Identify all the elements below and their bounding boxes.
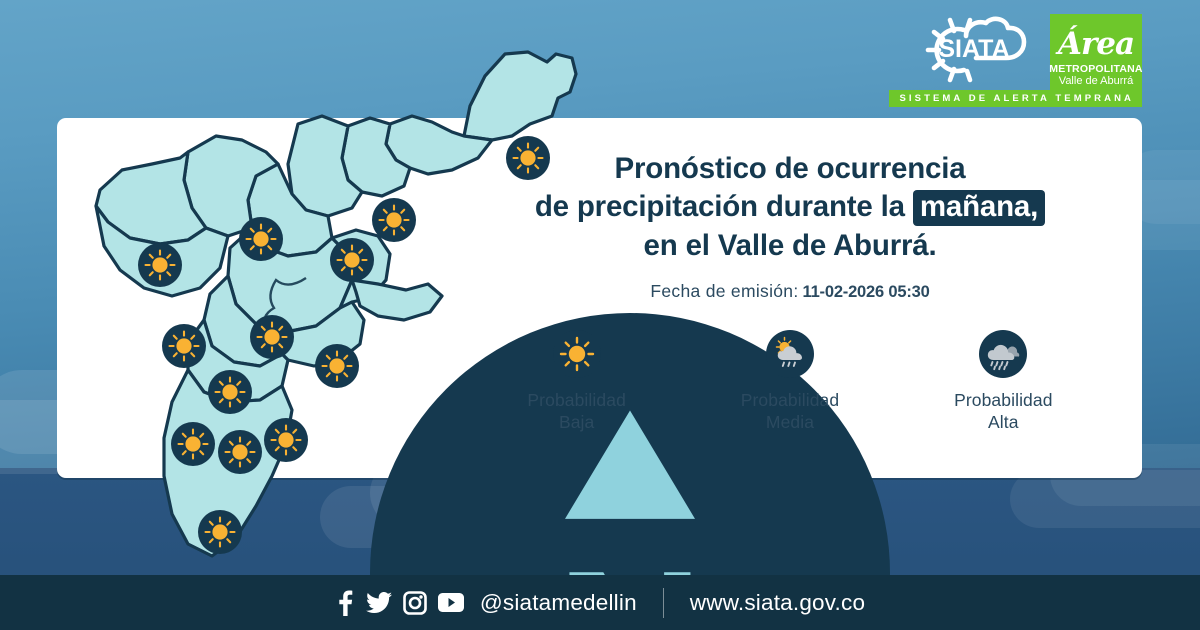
page-title: Pronóstico de ocurrencia de precipitació… (470, 150, 1110, 265)
legend-item-baja: Probabilidad Baja (482, 330, 672, 434)
map-marker-baja (208, 370, 252, 414)
legend-label-line1: Probabilidad (527, 389, 626, 411)
rain-cloud-icon (979, 330, 1027, 378)
area-metropolitana-script: Área (1058, 29, 1134, 60)
footer-bar: @siatamedellin www.siata.gov.co (0, 575, 1200, 630)
facebook-icon[interactable] (335, 590, 355, 616)
legend-label-line2: Alta (954, 411, 1053, 433)
compass-badge: N (370, 293, 418, 341)
emission-date-value: 11-02-2026 05:30 (803, 283, 930, 301)
title-highlight-manana: mañana, (913, 190, 1045, 226)
legend-label-line2: Media (741, 411, 840, 433)
legend-label-line2: Baja (527, 411, 626, 433)
map-marker-baja (330, 238, 374, 282)
emission-date-label: Fecha de emisión: (650, 281, 798, 301)
map-marker-baja (198, 510, 242, 554)
title-line-3: en el Valle de Aburrá. (470, 227, 1110, 265)
social-handle[interactable]: @siatamedellin (480, 590, 637, 616)
probability-legend: Probabilidad Baja (470, 330, 1110, 434)
social-icons (335, 590, 464, 616)
instagram-icon[interactable] (403, 591, 427, 615)
siata-wordmark: SIATA (938, 35, 1009, 63)
valle-de-aburra-map: N (60, 40, 580, 600)
map-marker-baja (372, 198, 416, 242)
map-marker-baja (218, 430, 262, 474)
title-line-2-text: de precipitación durante la (535, 190, 905, 223)
legend-label-baja: Probabilidad Baja (527, 389, 626, 434)
infographic-root: SIATA Área METROPOLITANA Valle de Aburrá… (0, 0, 1200, 630)
legend-label-line1: Probabilidad (741, 389, 840, 411)
map-marker-baja (239, 217, 283, 261)
footer-divider (663, 588, 664, 618)
map-marker-baja (171, 422, 215, 466)
website-link[interactable]: www.siata.gov.co (690, 590, 865, 616)
sun-icon (553, 330, 601, 378)
legend-item-media: Probabilidad Media (695, 330, 885, 434)
emission-date: Fecha de emisión:11-02-2026 05:30 (470, 281, 1110, 302)
map-marker-baja (162, 324, 206, 368)
area-metropolitana-line2: Valle de Aburrá (1059, 75, 1133, 88)
legend-label-media: Probabilidad Media (741, 389, 840, 434)
area-metropolitana-line1: METROPOLITANA (1049, 64, 1142, 76)
map-marker-baja (315, 344, 359, 388)
title-line-2: de precipitación durante la mañana, (470, 188, 1110, 226)
siata-logo: SIATA (914, 14, 1036, 86)
legend-label-alta: Probabilidad Alta (954, 389, 1053, 434)
legend-label-line1: Probabilidad (954, 389, 1053, 411)
background-cloud-decoration (1010, 470, 1200, 528)
siata-tagline: SISTEMA DE ALERTA TEMPRANA (889, 90, 1142, 107)
area-metropolitana-logo: Área METROPOLITANA Valle de Aburrá (1050, 14, 1142, 92)
sun-cloud-icon: SIATA (914, 14, 1036, 86)
legend-item-alta: Probabilidad Alta (908, 330, 1098, 434)
youtube-icon[interactable] (438, 593, 464, 612)
sun-behind-rain-cloud-icon (766, 330, 814, 378)
map-marker-baja (250, 315, 294, 359)
twitter-icon[interactable] (366, 592, 392, 614)
title-line-1: Pronóstico de ocurrencia (470, 150, 1110, 188)
headline-block: Pronóstico de ocurrencia de precipitació… (470, 150, 1110, 302)
map-marker-baja (138, 243, 182, 287)
map-region-barbosa (464, 52, 576, 140)
logo-group: SIATA Área METROPOLITANA Valle de Aburrá (914, 14, 1142, 92)
map-marker-baja (264, 418, 308, 462)
